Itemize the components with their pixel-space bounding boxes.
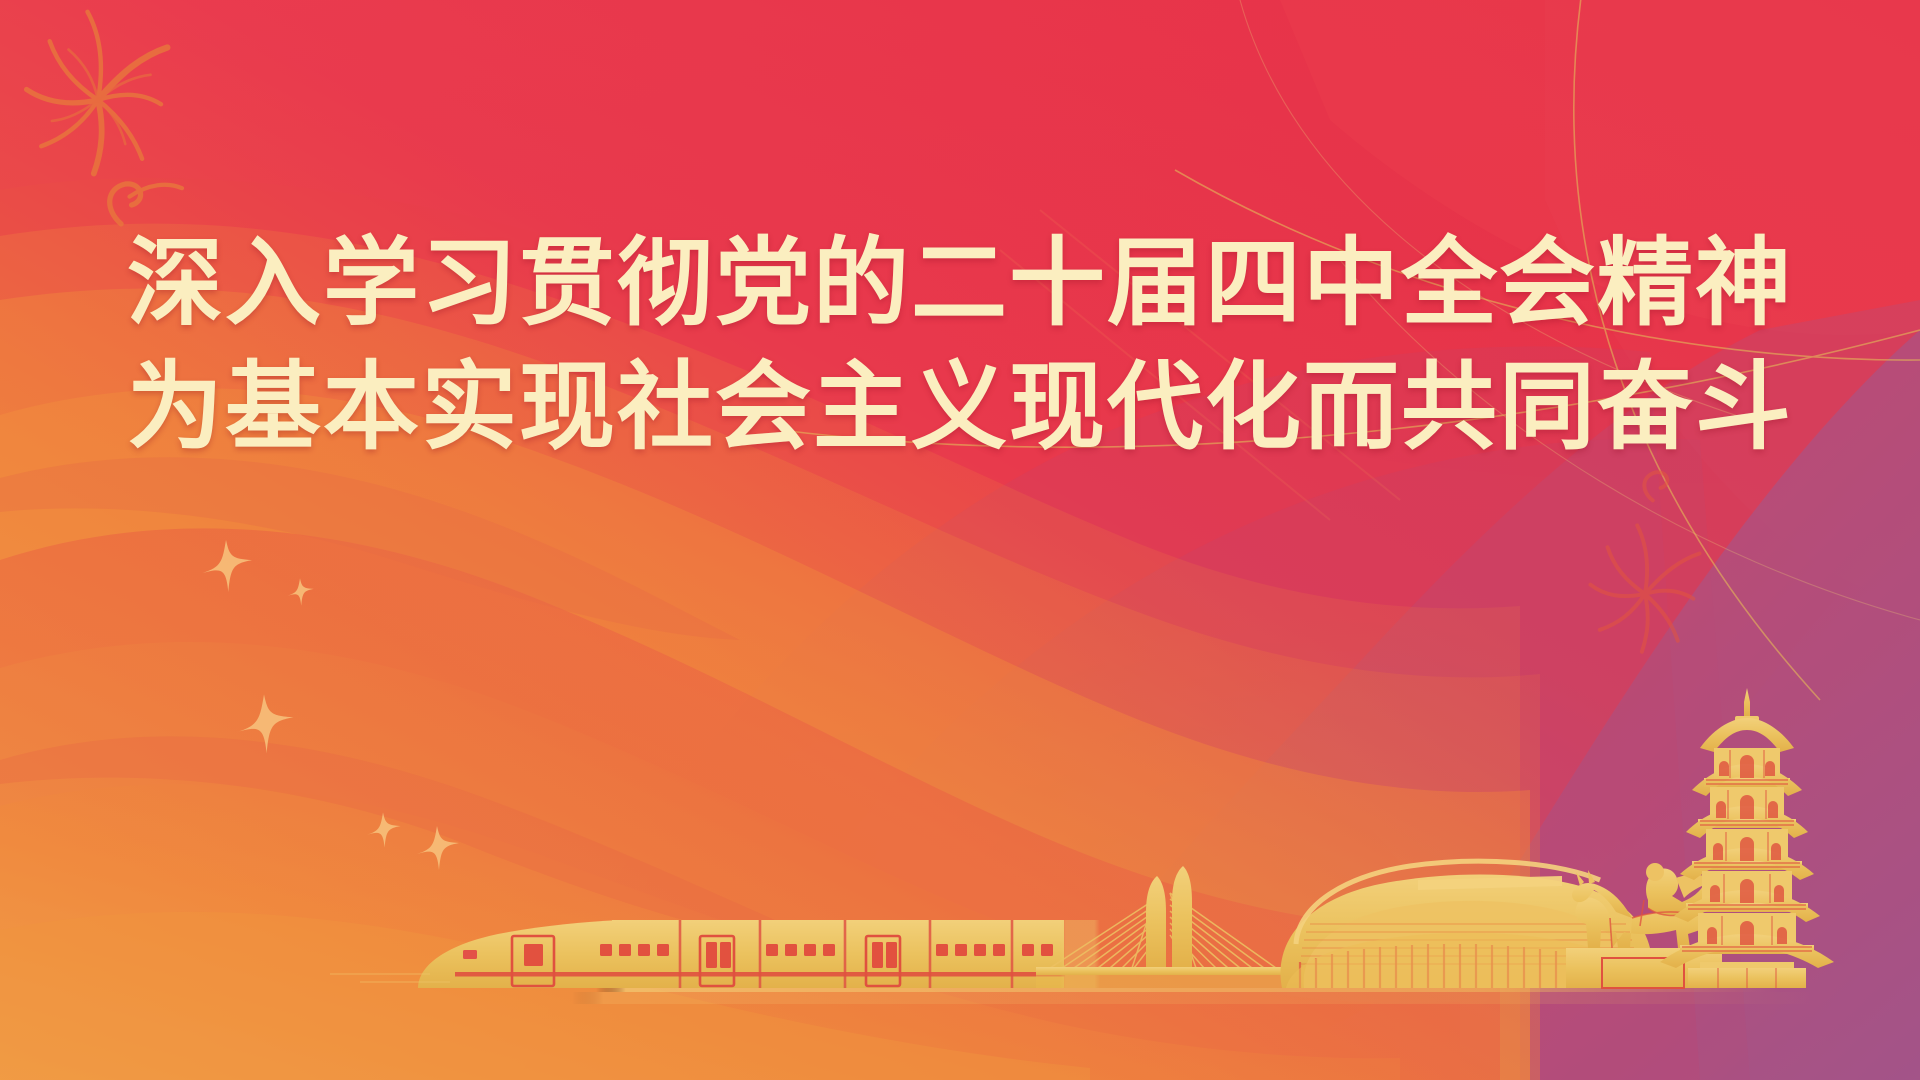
pagoda-roof-1 — [1700, 718, 1794, 752]
bridge-pylon-right — [1172, 866, 1192, 968]
banner-canvas: 深入学习贯彻党的二十届四中全会精神 为基本实现社会主义现代化而共同奋斗 — [0, 0, 1920, 1080]
train-nose — [418, 920, 620, 988]
pagoda-spire — [1744, 688, 1750, 716]
ground-line-soft — [260, 992, 1820, 1004]
train-windows — [600, 944, 1053, 956]
ground-line — [300, 988, 1780, 992]
statue-rider-head — [1646, 863, 1664, 881]
high-speed-train-icon — [330, 920, 1100, 988]
bridge-pylon-left — [1146, 876, 1166, 968]
train-headlight — [463, 950, 477, 959]
bridge-deck-shadow — [1036, 975, 1288, 988]
skyline-layer — [0, 0, 1920, 1080]
train-stripe — [455, 972, 1065, 977]
bridge-deck — [1036, 967, 1288, 975]
